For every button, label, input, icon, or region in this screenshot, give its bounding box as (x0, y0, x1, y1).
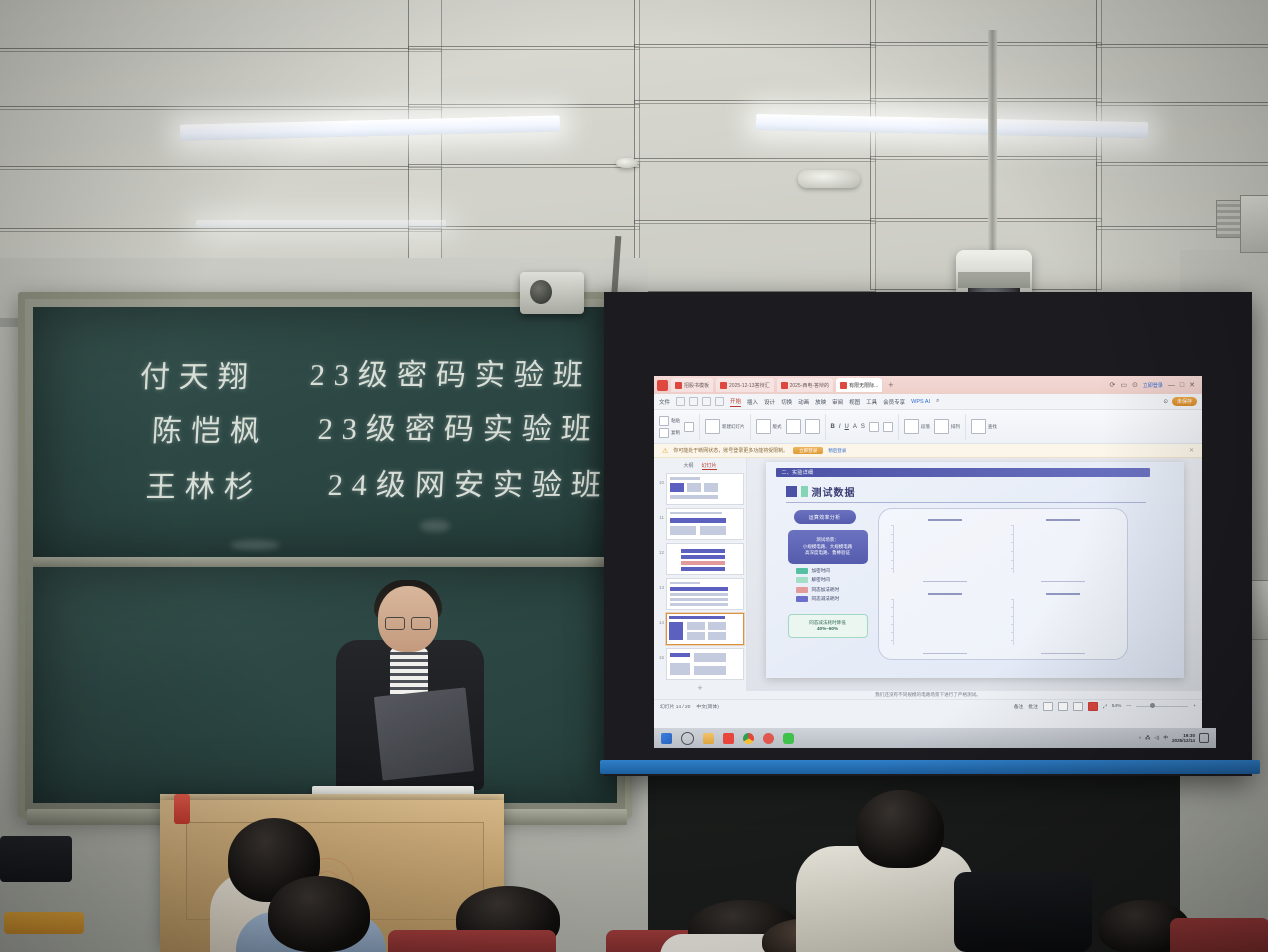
document-tab[interactable]: 2025-西电-答辩的 (777, 378, 833, 392)
wps-office-window[interactable]: 招股书模板 2025-12-13答辩汇 2025-西电-答辩的 有限无限际...… (654, 376, 1202, 728)
comment-button[interactable]: 批注 (1028, 703, 1038, 710)
chair-seat (4, 912, 84, 934)
presenter-laptop (374, 687, 474, 780)
title-marker-green (801, 486, 808, 497)
chalk-class-2: 23级密码实验班 (317, 404, 601, 448)
document-tab[interactable]: 2025-12-13答辩汇 (716, 378, 774, 392)
menu-file[interactable]: 文件 (659, 398, 670, 406)
chart-robustness (1013, 591, 1113, 647)
menu-item-member[interactable]: 会员专享 (883, 398, 905, 406)
ppt-file-icon (840, 382, 847, 389)
ime-indicator[interactable]: 中 (1163, 735, 1168, 741)
menu-item-view[interactable]: 视图 (849, 398, 860, 406)
menu-item-start[interactable]: 开始 (730, 397, 741, 407)
slide-number: 15 (656, 648, 664, 660)
legend-label: 同态减法耗时 (812, 596, 840, 602)
notification-bar[interactable]: ⚠ 你可能处于断网状态，账号登录更多功能将受限制。 立即登录 稍后登录 ✕ (654, 444, 1202, 458)
text-highlight-icon[interactable] (869, 422, 879, 432)
slide-canvas-area[interactable]: 二、实验详细 测试数据 运算效率分析 测试场景： 小规模电路、大规模电路 高深度… (747, 458, 1202, 691)
warning-icon: ⚠ (662, 447, 668, 455)
conclusion-box: 同态减法耗时降低 40%~60% (788, 614, 868, 638)
slide-thumbnail[interactable] (666, 508, 744, 540)
ppt-file-icon (781, 382, 788, 389)
language-indicator[interactable]: 中文(简体) (696, 703, 718, 710)
slide-title-group: 测试数据 (786, 484, 856, 499)
slide-number: 10 (656, 473, 664, 485)
tray-expand-icon[interactable]: ^ (1139, 736, 1141, 741)
wps-icon[interactable] (723, 733, 734, 744)
document-tab-active[interactable]: 有限无限际... (836, 378, 882, 392)
menu-item-transition[interactable]: 切换 (781, 398, 792, 406)
login-button[interactable]: 立即登录 (1143, 382, 1163, 389)
tab-label: 有限无限际... (849, 382, 878, 389)
quick-access-toolbar[interactable] (676, 397, 724, 406)
legend-label: 加密时间 (812, 568, 830, 574)
bold-button[interactable]: B (831, 424, 835, 430)
chair-back (0, 836, 72, 882)
legend-swatch (796, 596, 808, 602)
font-color-button[interactable]: A (853, 424, 857, 430)
normal-view-button[interactable] (1043, 702, 1053, 711)
tab-label: 招股书模板 (684, 382, 709, 389)
find-button[interactable]: 查找 (971, 419, 997, 434)
legend-item: 同态加法耗时 (796, 587, 840, 593)
new-slide-button[interactable]: 新建幻灯片 (705, 419, 745, 434)
chalk-class-1: 23级密码实验班 (309, 350, 593, 394)
menu-item-animation[interactable]: 动画 (798, 398, 809, 406)
file-explorer-icon[interactable] (703, 733, 714, 744)
wps-ai-button[interactable]: WPS AI (911, 399, 930, 405)
menu-item-slideshow[interactable]: 放映 (815, 398, 826, 406)
tab-label: 2025-12-13答辩汇 (729, 382, 770, 389)
paste-button[interactable]: 粘贴 (659, 416, 680, 426)
arrange-icon (934, 419, 949, 434)
notification-text: 你可能处于断网状态，账号登录更多功能将受限制。 (673, 447, 788, 454)
chrome-icon[interactable] (743, 733, 754, 744)
legend-item: 加密时间 (796, 568, 840, 574)
legend-item: 解密时间 (796, 577, 840, 583)
ribbon-group-font[interactable]: B I U A S (831, 414, 899, 440)
scenario-box: 测试场景： 小规模电路、大规模电路 高深度电路、鲁棒验证 (788, 530, 868, 564)
backpack (954, 872, 1092, 952)
charts-container (878, 508, 1128, 660)
fit-to-window-button[interactable]: ⤢ (1103, 704, 1107, 710)
chart-small-circuit (893, 517, 997, 575)
close-button[interactable]: ✕ (1189, 381, 1195, 389)
legend-label: 解密时间 (812, 577, 830, 583)
slide-number: 11 (656, 508, 664, 520)
notification-login-button[interactable]: 立即登录 (793, 447, 823, 454)
projector (520, 272, 584, 314)
chart-deep-circuit (893, 591, 997, 647)
search-icon[interactable] (681, 732, 694, 745)
arrange-button[interactable]: 排列 (934, 419, 960, 434)
system-tray[interactable]: ^ 🖧 ◁) 中 19:30 2025/12/14 (1139, 733, 1209, 744)
slide-thumbnail[interactable] (666, 578, 744, 610)
zoom-in-button[interactable]: + (1193, 704, 1196, 709)
presenter-glasses (385, 617, 431, 628)
analysis-pill: 运算效率分析 (794, 510, 856, 524)
document-tab[interactable]: 招股书模板 (671, 378, 713, 392)
title-underline (786, 502, 1146, 503)
save-status-button[interactable]: 未保存 (1172, 397, 1197, 406)
ceiling (0, 0, 1268, 300)
reset-icon[interactable] (805, 419, 820, 434)
slide-title: 测试数据 (812, 484, 856, 499)
ribbon-group-layout[interactable]: 版式 (756, 414, 826, 440)
zoom-out-button[interactable]: — (1126, 704, 1131, 709)
chalk-class-3: 24级网安实验班 (327, 460, 611, 504)
wps-menu-bar[interactable]: 文件 开始 插入 设计 切换 动画 放映 审阅 视图 工具 会员专享 WPS A… (654, 394, 1202, 410)
slide-thumbnail-panel[interactable]: 大纲 幻灯片 10 11 (654, 458, 747, 691)
add-slide-button[interactable]: + (656, 683, 744, 691)
layout-icon (756, 419, 771, 434)
ppt-file-icon (720, 382, 727, 389)
chart-legend: 加密时间 解密时间 同态加法耗时 同态减法耗时 (796, 568, 840, 602)
thumbnail-row[interactable]: 10 (656, 473, 744, 505)
title-marker-blue (786, 486, 797, 497)
underline-button[interactable]: U (845, 424, 849, 430)
close-icon[interactable]: ✕ (1189, 447, 1194, 454)
zoom-slider[interactable] (1136, 706, 1188, 707)
save-icon[interactable] (676, 397, 685, 406)
camera-band (958, 272, 1030, 288)
slide-notes-text[interactable]: 我们还没有不同规模的电路场景下进行了严格测试。 (654, 691, 1202, 699)
maximize-button[interactable]: □ (1180, 382, 1184, 389)
scenario-line-3: 高深度电路、鲁棒验证 (805, 550, 850, 557)
wps-ribbon-toolbar[interactable]: 粘贴 复制 新建幻灯片 版式 B I U A S (654, 410, 1202, 444)
italic-button[interactable]: I (839, 424, 841, 430)
chart-large-circuit (1013, 517, 1113, 575)
help-icon[interactable]: ⊙ (1132, 381, 1138, 389)
undo-icon[interactable] (702, 397, 711, 406)
slide-thumbnail[interactable] (666, 648, 744, 680)
zoom-level[interactable]: 54% (1112, 704, 1122, 709)
reading-view-button[interactable] (1073, 702, 1083, 711)
search-icon[interactable]: ⌕ (936, 398, 939, 405)
wps-main-area: 大纲 幻灯片 10 11 (654, 458, 1202, 691)
menu-item-review[interactable]: 审阅 (832, 398, 843, 406)
blackboard-divider (33, 557, 617, 567)
copy-icon (659, 428, 669, 438)
zoom-slider-handle (1150, 703, 1155, 708)
paragraph-icon (904, 419, 919, 434)
wps-logo-icon (657, 380, 668, 391)
windows-taskbar[interactable]: ^ 🖧 ◁) 中 19:30 2025/12/14 (654, 728, 1216, 748)
wall-equipment-box (1240, 195, 1268, 253)
print-icon[interactable] (689, 397, 698, 406)
current-slide[interactable]: 二、实验详细 测试数据 运算效率分析 测试场景： 小规模电路、大规模电路 高深度… (766, 462, 1184, 678)
minimize-button[interactable]: — (1168, 382, 1175, 389)
slide-thumbnail[interactable] (666, 543, 744, 575)
ribbon-group-clipboard[interactable]: 粘贴 复制 (659, 414, 700, 440)
section-icon[interactable] (786, 419, 801, 434)
layout-button[interactable]: 版式 (756, 419, 782, 434)
taskbar-clock[interactable]: 19:30 2025/12/14 (1172, 733, 1195, 744)
chalk-name-2: 陈恺枫 (151, 406, 270, 450)
smoke-detector-icon (616, 158, 638, 168)
sync-icon[interactable]: ⟳ (1110, 381, 1116, 389)
redo-icon[interactable] (715, 397, 724, 406)
ppt-file-icon (675, 382, 682, 389)
screen-bottom-bar (600, 760, 1260, 774)
ribbon-group-paragraph[interactable]: 段落 排列 (904, 414, 966, 440)
slide-section-header: 二、实验详细 (776, 468, 1150, 477)
slide-thumbnail-selected[interactable] (666, 613, 744, 645)
slide-number: 14 (656, 613, 664, 625)
browser-icon[interactable] (763, 733, 774, 744)
smoke-detector-icon (798, 170, 860, 188)
notification-icon[interactable] (1199, 733, 1209, 743)
menu-item-design[interactable]: 设计 (764, 398, 775, 406)
wechat-icon[interactable] (783, 733, 794, 744)
thumbnail-panel-tabs[interactable]: 大纲 幻灯片 (656, 460, 744, 473)
classroom-scene: 付天翔 23级密码实验班 陈恺枫 23级密码实验班 王林杉 24级网安实验班 招… (0, 0, 1268, 952)
history-icon[interactable]: ⊙ (1163, 399, 1168, 405)
legend-swatch (796, 568, 808, 574)
slide-counter: 幻灯片 14 / 20 (660, 703, 690, 710)
window-controls[interactable]: ⟳ ▭ ⊙ 立即登录 — □ ✕ (1110, 381, 1200, 389)
seat-back (388, 930, 556, 952)
strikethrough-button[interactable]: S (861, 424, 865, 430)
menu-item-insert[interactable]: 插入 (747, 398, 758, 406)
start-icon[interactable] (661, 733, 672, 744)
copy-button[interactable]: 复制 (659, 428, 680, 438)
legend-swatch (796, 587, 808, 593)
tab-label: 2025-西电-答辩的 (790, 382, 829, 389)
notification-later-link[interactable]: 稍后登录 (828, 448, 846, 454)
seat-back (1170, 918, 1268, 952)
slide-sorter-button[interactable] (1058, 702, 1068, 711)
chalk-name-1: 付天翔 (139, 352, 258, 396)
thumbnail-row[interactable]: 12 (656, 543, 744, 575)
volume-icon[interactable]: ◁) (1154, 735, 1159, 741)
search-icon (971, 419, 986, 434)
slide-number: 13 (656, 578, 664, 590)
new-slide-icon (705, 419, 720, 434)
thumbnail-row[interactable]: 14 (656, 613, 744, 645)
layout-icon[interactable]: ▭ (1120, 381, 1127, 389)
thumbnail-row[interactable]: 13 (656, 578, 744, 610)
paragraph-button[interactable]: 段落 (904, 419, 930, 434)
legend-swatch (796, 577, 808, 583)
tab-slides[interactable]: 幻灯片 (702, 462, 717, 470)
menu-item-tools[interactable]: 工具 (866, 398, 877, 406)
water-bottle (174, 794, 190, 824)
slide-thumbnail[interactable] (666, 473, 744, 505)
new-tab-button[interactable]: + (885, 380, 896, 390)
slideshow-button[interactable] (1088, 702, 1098, 711)
tab-outline[interactable]: 大纲 (683, 462, 693, 470)
projector-lens (530, 280, 552, 304)
legend-label: 同态加法耗时 (812, 587, 840, 593)
notes-button[interactable]: 备注 (1014, 703, 1024, 710)
legend-item: 同态减法耗时 (796, 596, 840, 602)
thumbnail-row[interactable]: 11 (656, 508, 744, 540)
camera-mount-pole (988, 30, 997, 254)
conclusion-line-2: 40%~60% (817, 626, 838, 632)
text-effects-icon[interactable] (883, 422, 893, 432)
paste-icon (659, 416, 669, 426)
thumbnail-row[interactable]: 15 (656, 648, 744, 680)
chair (0, 836, 86, 952)
blackboard-lower-panel (33, 567, 617, 803)
chalk-name-3: 王林杉 (145, 462, 264, 506)
wps-tab-bar[interactable]: 招股书模板 2025-12-13答辩汇 2025-西电-答辩的 有限无限际...… (654, 376, 1202, 394)
format-painter-icon[interactable] (684, 422, 694, 432)
ribbon-group-slide[interactable]: 新建幻灯片 (705, 414, 751, 440)
audience-head (268, 876, 370, 952)
clock-date: 2025/12/14 (1172, 738, 1195, 743)
slide-number: 12 (656, 543, 664, 555)
wps-status-bar[interactable]: 幻灯片 14 / 20 中文(简体) 备注 批注 ⤢ 54% — + (654, 699, 1202, 713)
network-icon[interactable]: 🖧 (1145, 734, 1150, 742)
audience-head (856, 790, 944, 868)
ribbon-group-find[interactable]: 查找 (971, 414, 1002, 440)
ceiling-light (196, 220, 446, 228)
